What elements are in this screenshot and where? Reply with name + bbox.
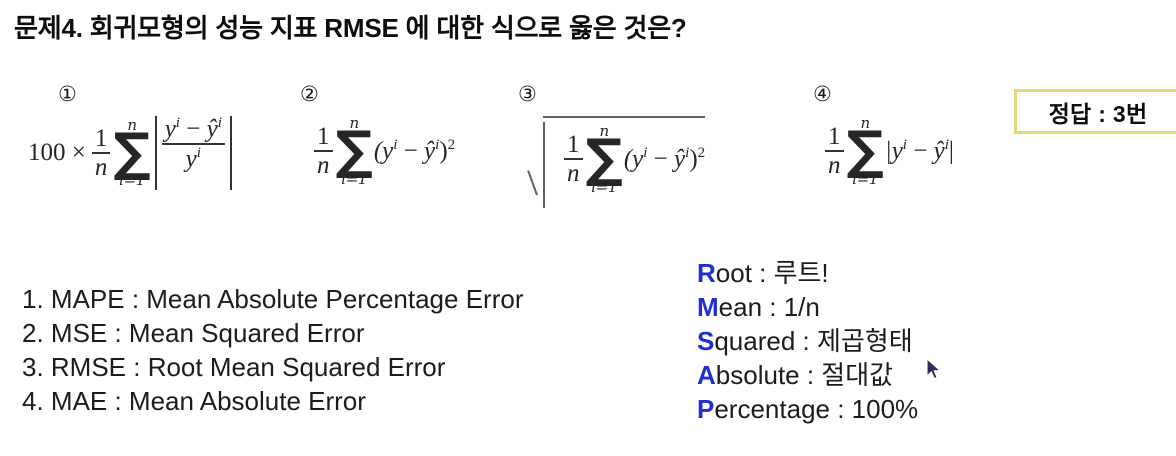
choice-1-inner-fraction: yi − ŷi yi (162, 116, 225, 190)
mnemonic-text: bsolute : 절대값 (716, 360, 893, 390)
mnemonic-initial: S (697, 326, 714, 356)
radical-sign (532, 116, 558, 195)
list-item: 4. MAE : Mean Absolute Error (22, 384, 523, 418)
choice-1-inner-num: yi − ŷi (162, 116, 225, 142)
metric-definition-list: 1. MAPE : Mean Absolute Percentage Error… (22, 282, 523, 418)
mnemonic-initial: A (697, 360, 716, 390)
list-item: Squared : 제곱형태 (697, 324, 918, 358)
list-item: Root : 루트! (697, 256, 918, 290)
choice-1-marker: ① (58, 84, 77, 105)
choice-1-one-over-n: 1 n (92, 126, 111, 181)
mnemonic-text: quared : 제곱형태 (714, 326, 912, 356)
mnemonic-text: ean : 1/n (719, 292, 820, 322)
list-item: 3. RMSE : Root Mean Squared Error (22, 350, 523, 384)
choice-1-inner-den: yi (183, 146, 204, 172)
choice-2-marker: ② (300, 84, 319, 105)
choice-2-formula: 1 n n ∑ i=1 (yi − ŷi)2 (312, 116, 455, 187)
mnemonic-text: ercentage : 100% (714, 394, 918, 424)
list-item: Percentage : 100% (697, 392, 918, 426)
list-item: 2. MSE : Mean Squared Error (22, 316, 523, 350)
formula-choices-row: ① 100 × 1 n n ∑ i=1 (0, 84, 1010, 234)
choice-2-summation: n ∑ i=1 (336, 116, 373, 187)
mnemonic-text: oot : 루트! (716, 258, 829, 288)
list-item: 1. MAPE : Mean Absolute Percentage Error (22, 282, 523, 316)
choice-1-formula: 100 × 1 n n ∑ i=1 (28, 116, 235, 190)
answer-badge: 정답 : 3번 (1014, 89, 1176, 134)
abs-bar-right (230, 116, 232, 190)
sigma-icon: ∑ (336, 131, 373, 172)
choice-2-expression: (yi − ŷi)2 (374, 137, 455, 165)
list-item: Mean : 1/n (697, 290, 918, 324)
slide-canvas: 문제4. 회귀모형의 성능 지표 RMSE 에 대한 식으로 옳은 것은? ① … (0, 0, 1176, 456)
answer-label: 정답 : 3번 (1049, 95, 1148, 129)
choice-3-expression: (yi − ŷi)2 (624, 145, 705, 173)
choice-3-radicand: 1 n n ∑ i=1 (yi − ŷi)2 (558, 116, 705, 195)
list-item: Absolute : 절대값 (697, 358, 918, 392)
mnemonic-initial: P (697, 394, 714, 424)
mouse-cursor-icon (926, 358, 944, 382)
abs-bar-left (155, 116, 157, 190)
choice-1-summation: n ∑ i=1 (113, 118, 150, 189)
radical-vinculum (543, 116, 705, 118)
choice-3-one-over-n: 1 n (564, 132, 583, 187)
choice-4-summation: n ∑ i=1 (847, 116, 884, 187)
choice-2-one-over-n: 1 n (314, 124, 333, 179)
mnemonic-initial: M (697, 292, 719, 322)
choice-3-marker: ③ (518, 84, 537, 105)
choice-4-marker: ④ (813, 84, 832, 105)
page-title: 문제4. 회귀모형의 성능 지표 RMSE 에 대한 식으로 옳은 것은? (14, 8, 687, 45)
mnemonic-initial: R (697, 258, 716, 288)
choice-3-summation: n ∑ i=1 (586, 124, 623, 195)
choice-4-formula: 1 n n ∑ i=1 |yi − ŷi| (823, 116, 954, 187)
sigma-icon: ∑ (586, 139, 623, 180)
choice-3-formula: 1 n n ∑ i=1 (yi − ŷi)2 (532, 110, 705, 195)
sigma-icon: ∑ (847, 131, 884, 172)
choice-4-one-over-n: 1 n (825, 124, 844, 179)
sigma-icon: ∑ (113, 133, 150, 174)
choice-4-expression: |yi − ŷi| (885, 137, 954, 165)
choice-1-absolute-group: yi − ŷi yi (152, 116, 235, 190)
rmsap-mnemonic-list: Root : 루트! Mean : 1/n Squared : 제곱형태 Abs… (697, 256, 918, 426)
choice-1-lead: 100 × (28, 139, 86, 167)
square-root-icon: 1 n n ∑ i=1 (yi − ŷi)2 (532, 110, 705, 195)
